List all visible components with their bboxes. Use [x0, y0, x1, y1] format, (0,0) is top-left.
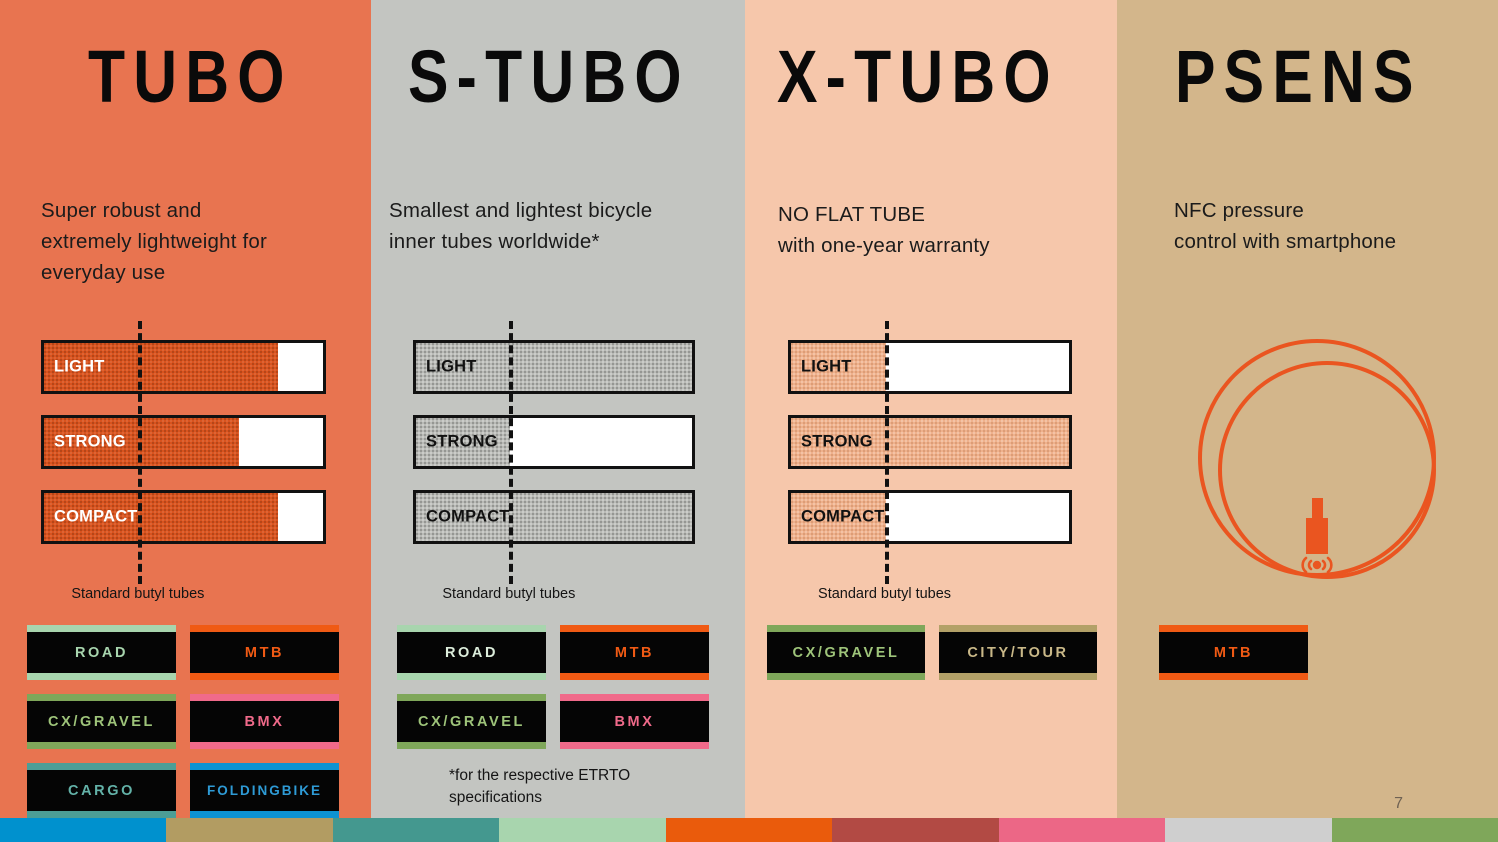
- bar-label: COMPACT: [801, 508, 885, 527]
- nfc-inner-tube-icon: [1180, 330, 1460, 600]
- tag-foldingbike[interactable]: FOLDINGBIKE: [190, 763, 339, 818]
- reference-line: [509, 321, 513, 584]
- bar-row: LIGHT: [788, 340, 1072, 394]
- column-subtitle-tubo: Super robust and extremely lightweight f…: [41, 195, 267, 288]
- tag-list-x-tubo: CX/GRAVEL CITY/TOUR: [767, 625, 1097, 680]
- bar-row: LIGHT: [41, 340, 326, 394]
- tag-label: MTB: [1214, 645, 1253, 661]
- bar-row: COMPACT: [41, 490, 326, 544]
- bar-chart-x-tubo: LIGHT STRONG COMPACT Standard butyl tube…: [788, 340, 1072, 565]
- column-s-tubo: S-TUBO Smallest and lightest bicycle inn…: [371, 0, 745, 818]
- page-number: 7: [1394, 795, 1403, 813]
- tag-bmx[interactable]: BMX: [190, 694, 339, 749]
- tag-cargo[interactable]: CARGO: [27, 763, 176, 818]
- strip-segment: [499, 818, 665, 842]
- tag-label: CARGO: [68, 783, 135, 799]
- bar-row: COMPACT: [413, 490, 695, 544]
- column-title-x-tubo: X-TUBO: [777, 38, 1059, 116]
- bar-row: LIGHT: [413, 340, 695, 394]
- tag-label: CX/GRAVEL: [418, 714, 525, 730]
- tag-mtb[interactable]: MTB: [560, 625, 709, 680]
- tag-city-tour[interactable]: CITY/TOUR: [939, 625, 1097, 680]
- tag-mtb[interactable]: MTB: [190, 625, 339, 680]
- tag-cx-gravel[interactable]: CX/GRAVEL: [27, 694, 176, 749]
- bar-chart-tubo: LIGHT STRONG COMPACT Standard butyl tube…: [41, 340, 326, 565]
- tag-bmx[interactable]: BMX: [560, 694, 709, 749]
- bar-row: STRONG: [413, 415, 695, 469]
- bar-label: STRONG: [54, 433, 126, 452]
- bar-row: STRONG: [788, 415, 1072, 469]
- bar-row: STRONG: [41, 415, 326, 469]
- bottom-color-strip: [0, 818, 1498, 842]
- tag-cx-gravel[interactable]: CX/GRAVEL: [397, 694, 546, 749]
- tag-label: BMX: [244, 714, 284, 730]
- tag-list-psens: MTB: [1159, 625, 1489, 680]
- bar-label: LIGHT: [801, 358, 852, 377]
- column-subtitle-s-tubo: Smallest and lightest bicycle inner tube…: [389, 195, 652, 257]
- column-tubo: TUBO Super robust and extremely lightwei…: [0, 0, 371, 818]
- strip-segment: [999, 818, 1165, 842]
- tag-label: ROAD: [75, 645, 128, 661]
- column-title-psens: PSENS: [1175, 38, 1422, 116]
- column-title-tubo: TUBO: [88, 38, 293, 116]
- tag-cx-gravel[interactable]: CX/GRAVEL: [767, 625, 925, 680]
- reference-caption: Standard butyl tubes: [442, 586, 575, 602]
- bar-chart-s-tubo: LIGHT STRONG COMPACT Standard butyl tube…: [413, 340, 695, 565]
- tag-label: MTB: [245, 645, 284, 661]
- bar-label: COMPACT: [426, 508, 510, 527]
- bar-label: STRONG: [426, 433, 498, 452]
- reference-caption: Standard butyl tubes: [71, 586, 204, 602]
- strip-segment: [666, 818, 832, 842]
- slide: TUBO Super robust and extremely lightwei…: [0, 0, 1498, 842]
- tag-label: CX/GRAVEL: [793, 645, 900, 661]
- strip-segment: [0, 818, 166, 842]
- bar-label: LIGHT: [426, 358, 477, 377]
- reference-caption: Standard butyl tubes: [818, 586, 951, 602]
- column-x-tubo: X-TUBO NO FLAT TUBE with one-year warran…: [745, 0, 1117, 818]
- column-subtitle-x-tubo: NO FLAT TUBE with one-year warranty: [778, 199, 990, 261]
- tag-label: CX/GRAVEL: [48, 714, 155, 730]
- tag-list-tubo: ROAD MTB CX/GRAVEL BMX CARGO FOLDINGBIKE: [27, 625, 352, 818]
- reference-line: [885, 321, 889, 584]
- strip-segment: [166, 818, 332, 842]
- strip-segment: [832, 818, 998, 842]
- bar-label: STRONG: [801, 433, 873, 452]
- column-subtitle-psens: NFC pressure control with smartphone: [1174, 195, 1396, 257]
- strip-segment: [1165, 818, 1331, 842]
- tag-mtb[interactable]: MTB: [1159, 625, 1308, 680]
- bar-label: COMPACT: [54, 508, 138, 527]
- tag-label: ROAD: [445, 645, 498, 661]
- tag-label: BMX: [614, 714, 654, 730]
- strip-segment: [333, 818, 499, 842]
- bar-row: COMPACT: [788, 490, 1072, 544]
- strip-segment: [1332, 818, 1498, 842]
- tag-label: CITY/TOUR: [967, 645, 1068, 661]
- footnote-etrto: *for the respective ETRTO specifications: [449, 765, 630, 809]
- tag-label: MTB: [615, 645, 654, 661]
- column-title-s-tubo: S-TUBO: [408, 38, 690, 116]
- tag-road[interactable]: ROAD: [27, 625, 176, 680]
- tag-list-s-tubo: ROAD MTB CX/GRAVEL BMX: [397, 625, 722, 749]
- bar-label: LIGHT: [54, 358, 105, 377]
- reference-line: [138, 321, 142, 584]
- tag-road[interactable]: ROAD: [397, 625, 546, 680]
- tag-label: FOLDINGBIKE: [207, 783, 322, 798]
